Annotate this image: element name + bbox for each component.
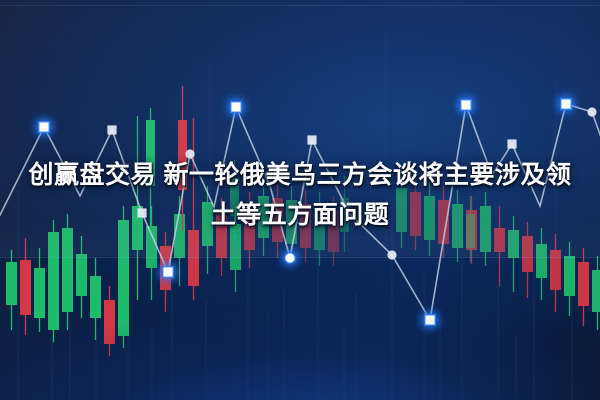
headline-line-1: 创赢盘交易 新一轮俄美乌三方会谈将主要涉及领 [6, 155, 594, 195]
headline-line-2: 土等五方面问题 [6, 195, 594, 235]
page-title: 创赢盘交易 新一轮俄美乌三方会谈将主要涉及领 土等五方面问题 [0, 155, 600, 235]
news-banner-image: 创赢盘交易 新一轮俄美乌三方会谈将主要涉及领 土等五方面问题 [0, 0, 600, 400]
